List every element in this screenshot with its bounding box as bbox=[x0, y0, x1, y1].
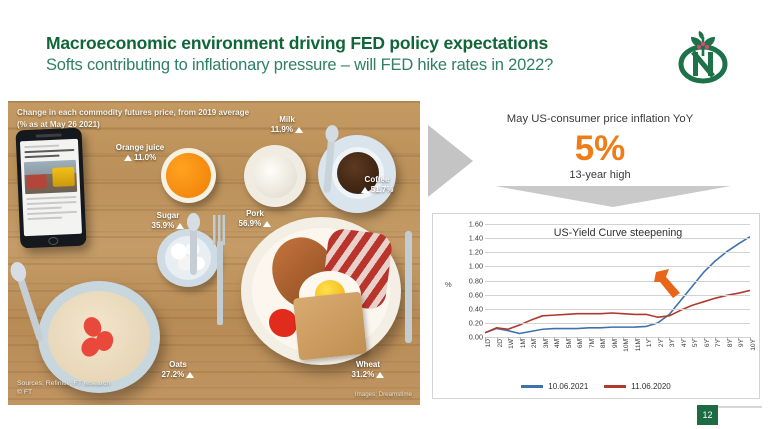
chart-title: US-Yield Curve steepening bbox=[493, 227, 743, 239]
nedbank-n-leaf-logo bbox=[672, 30, 734, 86]
photo-sources: Sources: Refinitiv; FT research © FT bbox=[17, 379, 110, 397]
label-wheat: Wheat 31.2% bbox=[333, 360, 403, 379]
photo-image-credit: Images: Dreamstime bbox=[355, 391, 412, 398]
x-tick-label: 3M bbox=[543, 339, 550, 348]
up-triangle-icon bbox=[361, 187, 369, 193]
x-tick-label: 6Y bbox=[704, 339, 711, 347]
oatmeal-bowl bbox=[38, 281, 160, 393]
y-tick-label: 0.60 bbox=[469, 290, 483, 299]
y-tick-label: 1.20 bbox=[469, 248, 483, 257]
x-tick-label: 11M bbox=[635, 339, 642, 351]
chart-x-labels: 1D2D1W1M2M3M4M5M6M7M8M9M10M11M1Y2Y3Y4Y5Y… bbox=[485, 337, 750, 373]
x-tick-label: 8M bbox=[600, 339, 607, 348]
x-tick-label: 6M bbox=[577, 339, 584, 348]
chart-legend: 10.06.202111.06.2020 bbox=[433, 382, 759, 391]
x-tick-label: 8Y bbox=[727, 339, 734, 347]
x-tick-label: 2Y bbox=[658, 339, 665, 347]
legend-item[interactable]: 10.06.2021 bbox=[521, 382, 588, 391]
fork bbox=[217, 241, 223, 325]
breakfast-plate bbox=[241, 217, 401, 365]
down-arrow-icon bbox=[495, 186, 731, 207]
legend-label: 11.06.2020 bbox=[631, 382, 670, 391]
toast-slice bbox=[293, 292, 367, 361]
up-triangle-icon bbox=[263, 221, 271, 227]
label-pork: Pork 56.9% bbox=[221, 209, 289, 228]
photo-caption: Change in each commodity futures price, … bbox=[17, 107, 249, 130]
label-milk: Milk 11.9% bbox=[257, 115, 317, 134]
legend-swatch bbox=[521, 385, 543, 387]
x-tick-label: 7Y bbox=[715, 339, 722, 347]
page-title: Macroeconomic environment driving FED po… bbox=[46, 33, 548, 54]
orange-annotation-arrow-icon bbox=[652, 266, 684, 300]
label-sugar: Sugar 35.9% bbox=[134, 211, 202, 230]
legend-swatch bbox=[604, 385, 626, 387]
chart-y-ticks: 0.000.200.400.600.801.001.201.401.60 bbox=[453, 224, 483, 337]
page-number-badge: 12 bbox=[697, 405, 718, 425]
x-tick-label: 10Y bbox=[750, 339, 757, 351]
label-coffee: Coffee 51.7% bbox=[344, 175, 410, 194]
x-tick-label: 10M bbox=[623, 339, 630, 352]
smartphone-prop bbox=[15, 128, 86, 249]
label-orange-juice: Orange juice 11.0% bbox=[104, 143, 176, 162]
x-tick-label: 2D bbox=[497, 339, 504, 347]
knife bbox=[405, 231, 412, 343]
footer-rule bbox=[718, 406, 762, 408]
y-tick-label: 1.60 bbox=[469, 220, 483, 229]
news-thumbnail bbox=[24, 160, 77, 194]
commodity-breakfast-photo: Orange juice 11.0% Milk 11.9% Coffee 51.… bbox=[8, 101, 420, 405]
x-tick-label: 4Y bbox=[681, 339, 688, 347]
x-tick-label: 2M bbox=[531, 339, 538, 348]
up-triangle-icon bbox=[176, 223, 184, 229]
up-triangle-icon bbox=[186, 372, 194, 378]
label-oats: Oats 27.2% bbox=[145, 360, 211, 379]
x-tick-label: 4M bbox=[554, 339, 561, 348]
up-triangle-icon bbox=[376, 372, 384, 378]
up-triangle-icon bbox=[295, 127, 303, 133]
y-tick-label: 0.80 bbox=[469, 276, 483, 285]
sugar-bowl bbox=[157, 229, 219, 287]
page-subtitle: Softs contributing to inflationary press… bbox=[46, 56, 553, 75]
legend-label: 10.06.2021 bbox=[548, 382, 588, 391]
inflation-value: 5% bbox=[440, 128, 760, 170]
phone-screen bbox=[20, 139, 82, 236]
x-tick-label: 7M bbox=[589, 339, 596, 348]
inflation-note: 13-year high bbox=[440, 169, 760, 181]
x-tick-label: 1M bbox=[520, 339, 527, 348]
x-tick-label: 3Y bbox=[669, 339, 676, 347]
chart-plot-area bbox=[485, 224, 750, 337]
y-tick-label: 0.40 bbox=[469, 304, 483, 313]
y-tick-label: 0.20 bbox=[469, 318, 483, 327]
chart-gridlines bbox=[485, 224, 750, 337]
chart-y-axis-label: % bbox=[445, 280, 452, 289]
phone-speaker bbox=[36, 133, 62, 137]
legend-item[interactable]: 11.06.2020 bbox=[604, 382, 670, 391]
x-tick-label: 1W bbox=[508, 339, 515, 349]
phone-home-button bbox=[48, 236, 58, 244]
y-tick-label: 1.40 bbox=[469, 234, 483, 243]
y-tick-label: 0.00 bbox=[469, 333, 483, 342]
x-tick-label: 1D bbox=[485, 339, 492, 347]
x-tick-label: 5Y bbox=[692, 339, 699, 347]
milk-cup bbox=[244, 145, 306, 207]
x-tick-label: 1Y bbox=[646, 339, 653, 347]
slide-root: Macroeconomic environment driving FED po… bbox=[0, 0, 768, 429]
x-tick-label: 5M bbox=[566, 339, 573, 348]
inflation-headline: May US-consumer price inflation YoY bbox=[440, 113, 760, 125]
y-tick-label: 1.00 bbox=[469, 262, 483, 271]
tomato bbox=[269, 309, 297, 337]
x-tick-label: 9Y bbox=[738, 339, 745, 347]
x-tick-label: 9M bbox=[612, 339, 619, 348]
yield-curve-chart: US-Yield Curve steepening % 0.000.200.40… bbox=[432, 213, 760, 399]
up-triangle-icon bbox=[124, 155, 132, 161]
